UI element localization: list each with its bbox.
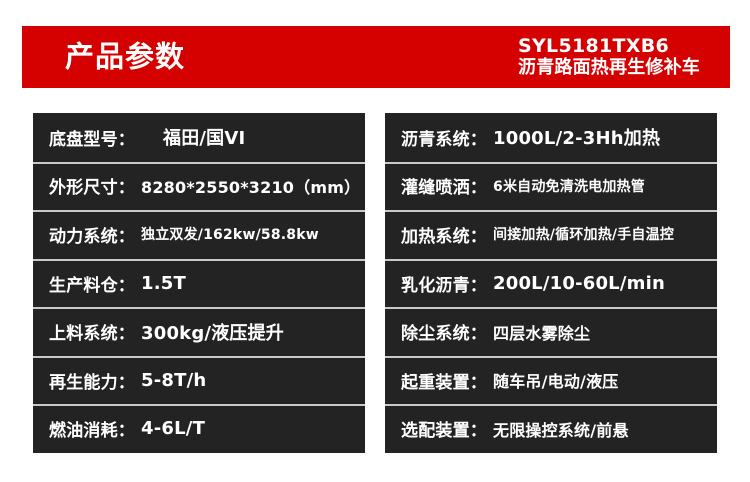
spec-label: 加热系统： [401,222,487,247]
spec-label: 动力系统： [49,222,135,247]
spec-value: 1.5T [141,273,186,294]
spec-value: 6米自动免清洗电加热管 [493,176,645,196]
spec-value: 300kg/液压提升 [141,319,284,345]
spec-value: 随车吊/电动/液压 [493,368,619,392]
spec-value: 200L/10-60L/min [493,273,665,294]
spec-value: 无限操控系统/前悬 [493,417,629,441]
spec-label: 灌缝喷洒： [401,173,487,198]
spec-row: 选配装置：无限操控系统/前悬 [385,404,717,453]
spec-row: 除尘系统：四层水雾除尘 [385,307,717,356]
product-model-number: SYL5181TXB6 [518,35,700,57]
product-name: 沥青路面热再生修补车 [518,58,700,79]
spec-value: 1000L/2-3Hh加热 [493,124,660,150]
spec-row: 乳化沥青：200L/10-60L/min [385,259,717,308]
spec-panel-left: 底盘型号：福田/国VI外形尺寸：8280*2550*3210（mm）动力系统：独… [33,113,365,453]
spec-value: 间接加热/循环加热/手自温控 [493,224,674,244]
spec-row: 底盘型号：福田/国VI [33,113,365,162]
spec-value: 福田/国VI [163,124,245,150]
spec-label: 燃油消耗： [49,416,135,441]
spec-row: 沥青系统：1000L/2-3Hh加热 [385,113,717,162]
spec-value: 8280*2550*3210（mm） [141,174,360,198]
spec-panels: 底盘型号：福田/国VI外形尺寸：8280*2550*3210（mm）动力系统：独… [33,113,717,453]
spec-value: 5-8T/h [141,370,206,391]
spec-row: 动力系统：独立双发/162kw/58.8kw [33,210,365,259]
spec-row: 生产料仓：1.5T [33,259,365,308]
spec-label: 外形尺寸： [49,173,135,198]
spec-row: 外形尺寸：8280*2550*3210（mm） [33,162,365,211]
spec-label: 再生能力： [49,368,135,393]
spec-row: 再生能力：5-8T/h [33,356,365,405]
spec-value: 四层水雾除尘 [493,320,590,344]
spec-label: 起重装置： [401,368,487,393]
spec-label: 除尘系统： [401,319,487,344]
spec-value: 独立双发/162kw/58.8kw [141,224,319,244]
spec-row: 燃油消耗：4-6L/T [33,404,365,453]
spec-label: 上料系统： [49,319,135,344]
spec-label: 生产料仓： [49,271,135,296]
spec-row: 灌缝喷洒：6米自动免清洗电加热管 [385,162,717,211]
spec-row: 起重装置：随车吊/电动/液压 [385,356,717,405]
spec-row: 上料系统：300kg/液压提升 [33,307,365,356]
spec-value: 4-6L/T [141,418,205,439]
header-banner: 产品参数 SYL5181TXB6 沥青路面热再生修补车 [22,26,730,88]
spec-label: 乳化沥青： [401,271,487,296]
page-title: 产品参数 [65,43,185,72]
spec-label: 沥青系统： [401,125,487,150]
spec-panel-right: 沥青系统：1000L/2-3Hh加热灌缝喷洒：6米自动免清洗电加热管加热系统：间… [385,113,717,453]
product-identity: SYL5181TXB6 沥青路面热再生修补车 [518,35,700,79]
spec-label: 底盘型号： [49,125,135,150]
spec-label: 选配装置： [401,416,487,441]
spec-row: 加热系统：间接加热/循环加热/手自温控 [385,210,717,259]
